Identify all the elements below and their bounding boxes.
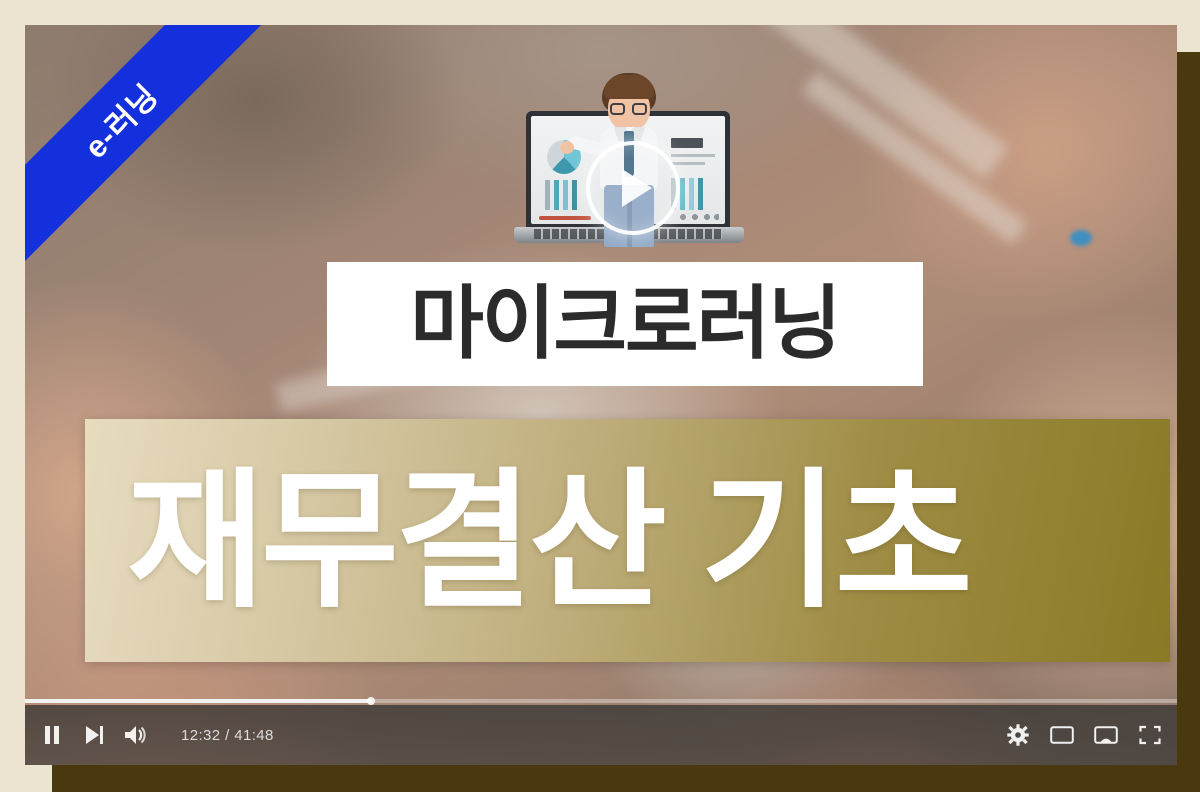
slide-accent-bar — [539, 216, 591, 220]
slide-text-line — [671, 154, 715, 157]
slide-bar-chart-icon — [545, 180, 591, 210]
video-player[interactable]: e-러닝 — [25, 25, 1177, 765]
character-glasses-left — [610, 103, 625, 115]
pause-button[interactable] — [39, 722, 65, 748]
time-display: 12:32 / 41:48 — [181, 727, 274, 744]
course-title: 재무결산 기초 — [85, 466, 969, 616]
player-control-bar: 12:32 / 41:48 — [25, 705, 1177, 765]
slide-dots — [679, 214, 719, 220]
page-stage: e-러닝 — [0, 0, 1200, 792]
character-glasses-right — [632, 103, 647, 115]
course-subtitle-band: 마이크로러닝 — [327, 262, 923, 386]
fullscreen-button[interactable] — [1137, 722, 1163, 748]
character-hair-top — [604, 75, 654, 99]
slide-block — [671, 138, 703, 148]
theater-mode-button[interactable] — [1093, 722, 1119, 748]
background-pen-tip — [1070, 230, 1092, 246]
settings-button[interactable] — [1005, 722, 1031, 748]
course-title-band: 재무결산 기초 — [85, 419, 1170, 662]
progress-bar-handle[interactable] — [367, 697, 375, 705]
progress-bar-fill — [25, 699, 371, 703]
miniplayer-button[interactable] — [1049, 722, 1075, 748]
progress-bar[interactable] — [25, 699, 1177, 703]
controls-left-group: 12:32 / 41:48 — [39, 705, 274, 765]
slide-text-line — [671, 162, 705, 165]
controls-right-group — [1005, 705, 1163, 765]
play-icon — [622, 169, 652, 207]
volume-button[interactable] — [123, 722, 149, 748]
character-hand — [560, 141, 574, 154]
course-subtitle: 마이크로러닝 — [410, 284, 840, 364]
next-track-button[interactable] — [81, 722, 107, 748]
play-button-overlay[interactable] — [586, 141, 680, 235]
